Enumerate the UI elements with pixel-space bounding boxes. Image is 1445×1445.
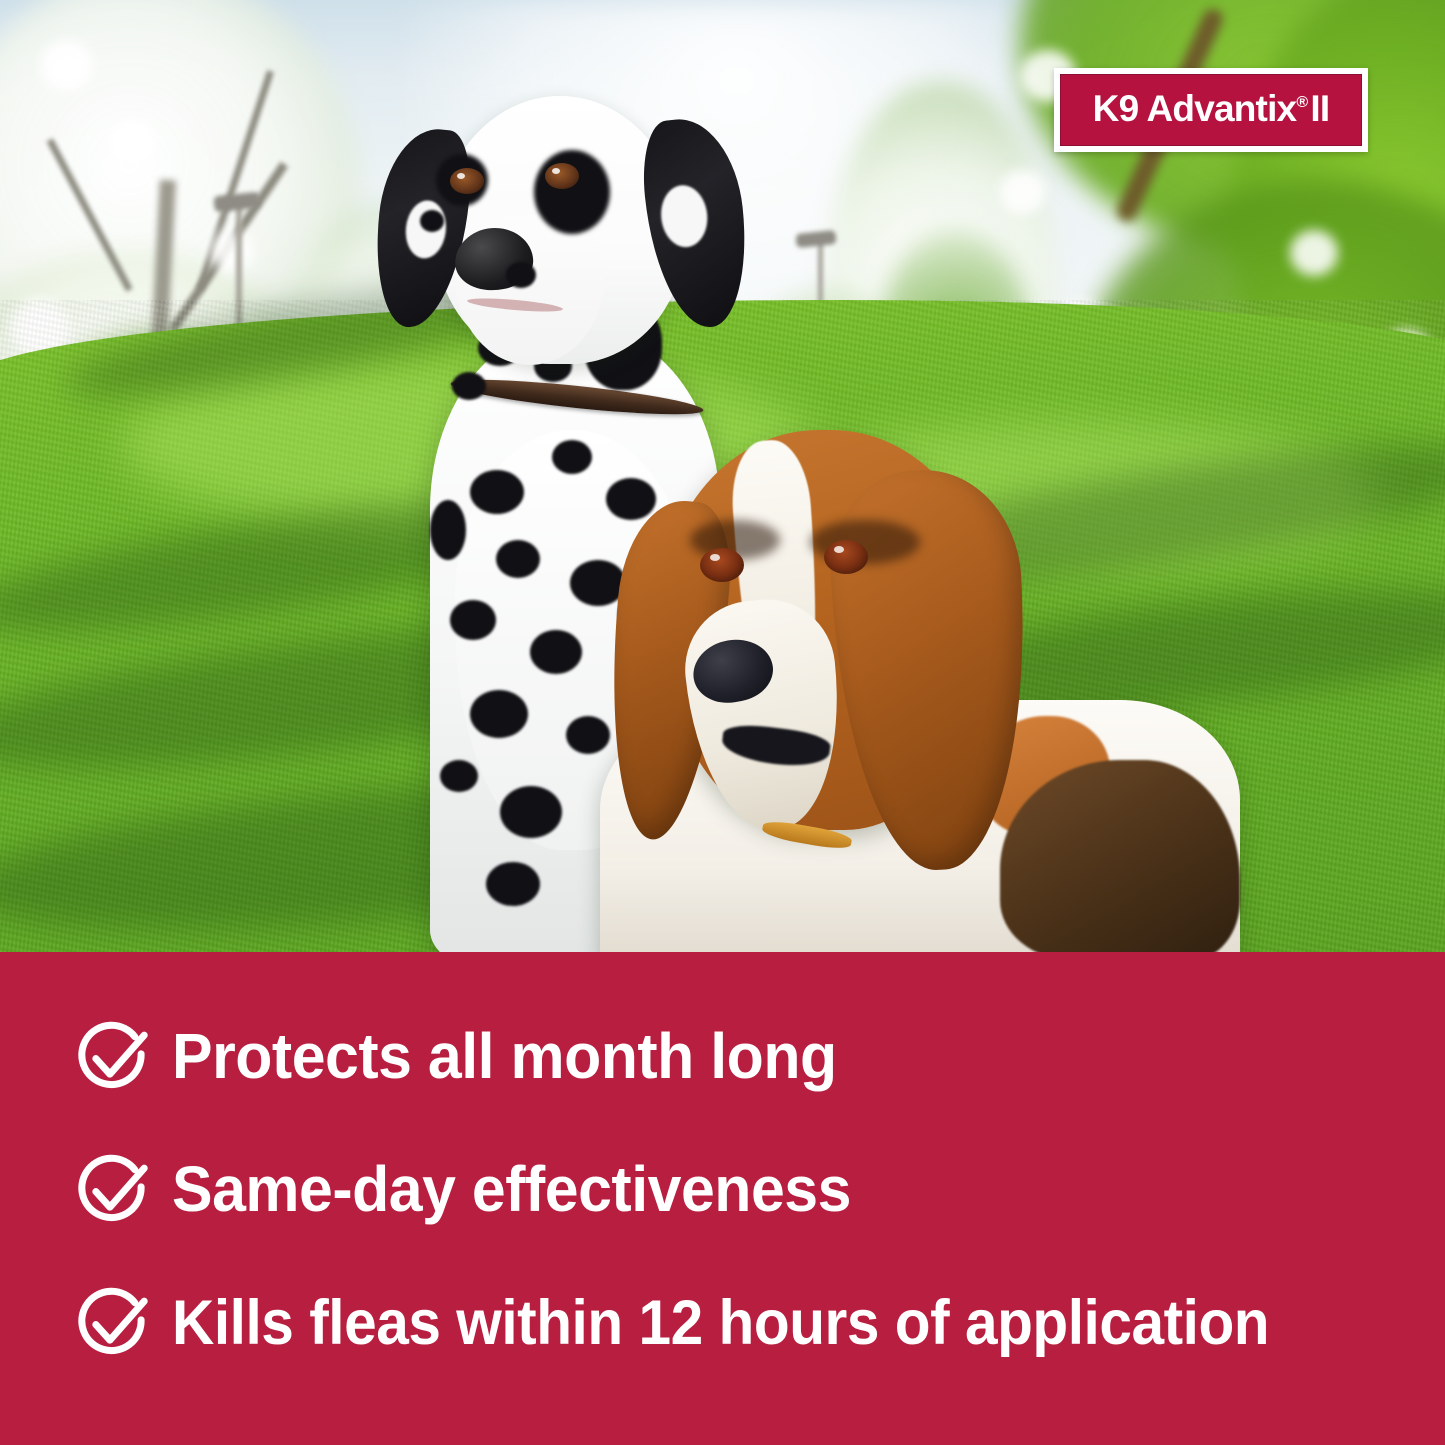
bokeh-highlight — [1290, 230, 1338, 276]
dalmatian-eye-left — [450, 168, 484, 194]
logo-wordmark: K9 Advantix®II — [1093, 88, 1330, 130]
logo-suffix: II — [1310, 88, 1329, 129]
dalmatian-spot — [470, 470, 524, 514]
dalmatian-spot — [430, 500, 466, 560]
dalmatian-eye-right — [545, 163, 579, 189]
dalmatian-spot — [470, 690, 528, 738]
bokeh-highlight — [210, 230, 254, 272]
dalmatian-spot — [606, 478, 656, 520]
dalmatian-ear-marking — [658, 183, 710, 249]
dalmatian-spot — [420, 210, 444, 232]
logo-inner-plate: K9 Advantix®II — [1060, 74, 1362, 146]
check-circle-icon — [74, 1284, 152, 1362]
product-ad-card: K9 Advantix®II Protects all month long S… — [0, 0, 1445, 1445]
dalmatian-spot — [530, 630, 582, 674]
k9-advantix-ii-logo[interactable]: K9 Advantix®II — [1054, 68, 1368, 152]
benefit-label: Same-day effectiveness — [172, 1157, 851, 1222]
check-circle-icon — [74, 1151, 152, 1229]
benefit-item: Same-day effectiveness — [74, 1147, 1405, 1233]
dalmatian-spot — [496, 540, 540, 578]
dalmatian-spot — [452, 372, 486, 400]
dalmatian-spot — [450, 600, 496, 640]
dalmatian-spot — [440, 760, 478, 792]
check-circle-icon — [74, 1018, 152, 1096]
dalmatian-spot — [506, 262, 536, 288]
logo-brand-name: K9 Advantix — [1093, 88, 1297, 129]
registered-trademark-icon: ® — [1296, 94, 1307, 111]
benefit-item: Protects all month long — [74, 1014, 1405, 1100]
dalmatian-spot — [566, 716, 610, 754]
bokeh-highlight — [1000, 170, 1046, 214]
benefits-list: Protects all month long Same-day effecti… — [0, 952, 1445, 1445]
basset-eye-right — [824, 540, 868, 574]
benefit-item: Kills fleas within 12 hours of applicati… — [74, 1280, 1405, 1366]
benefit-label: Protects all month long — [172, 1024, 837, 1089]
basset-eye-left — [700, 548, 744, 582]
bokeh-highlight — [40, 40, 94, 92]
dalmatian-spot — [486, 862, 540, 906]
dalmatian-spot — [552, 440, 592, 474]
bokeh-highlight — [110, 120, 156, 164]
benefit-label: Kills fleas within 12 hours of applicati… — [172, 1291, 1269, 1355]
hero-photo: K9 Advantix®II — [0, 0, 1445, 952]
dalmatian-spot — [500, 786, 562, 838]
dalmatian-eye-patch-right — [534, 150, 610, 234]
benefits-banner: Protects all month long Same-day effecti… — [0, 952, 1445, 1445]
